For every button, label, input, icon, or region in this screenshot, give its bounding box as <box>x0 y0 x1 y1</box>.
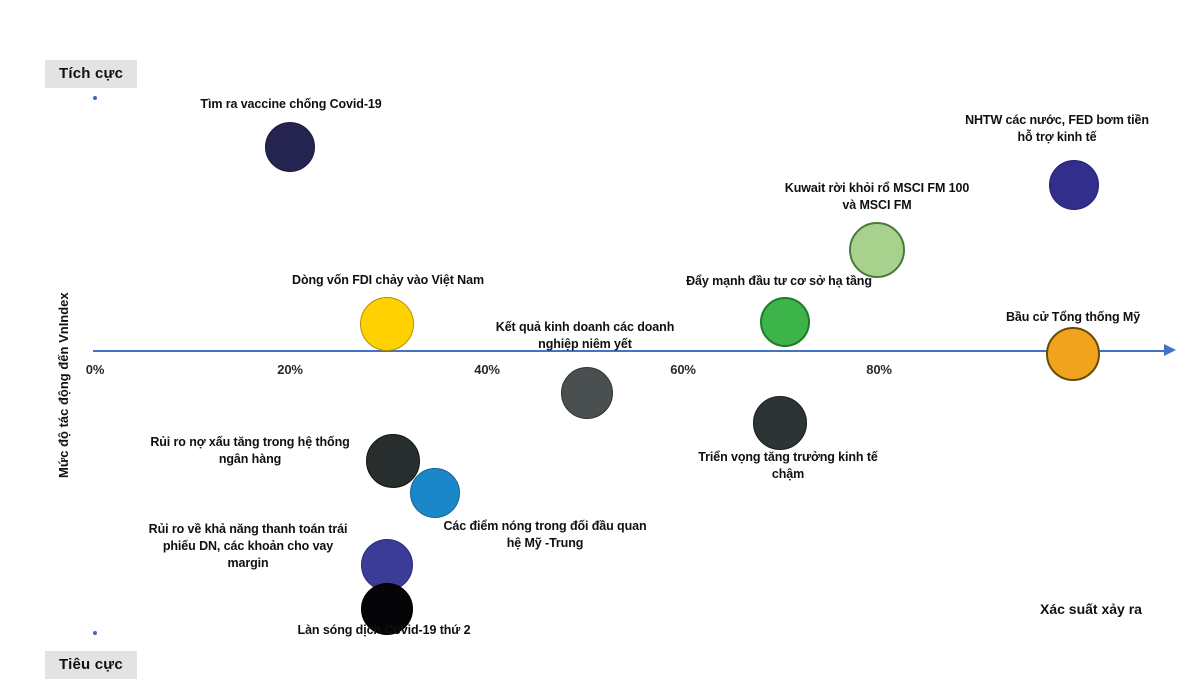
bubble-label-us-china-tension: Các điểm nóng trong đối đầu quan hệ Mỹ -… <box>375 518 715 552</box>
x-tick-40: 40% <box>474 362 499 377</box>
bubble-label-vaccine: Tìm ra vaccine chống Covid-19 <box>121 96 461 113</box>
y-axis-title: Mức độ tác động đến VnIndex <box>56 292 71 478</box>
pole-positive-badge: Tích cực <box>45 60 137 88</box>
bubble-label-kuwait-msci: Kuwait rời khỏi rổ MSCI FM 100 và MSCI F… <box>697 180 1057 214</box>
bubble-label-covid-second-wave: Làn sóng dịch Covid-19 thứ 2 <box>214 622 554 639</box>
bubble-label-nhtw-fed: NHTW các nước, FED bơm tiền hỗ trợ kinh … <box>897 112 1200 146</box>
x-axis-arrow-icon <box>1164 344 1176 356</box>
bubble-us-china-tension[interactable] <box>410 468 460 518</box>
bubble-corporate-earnings[interactable] <box>561 367 613 419</box>
x-axis-title: Xác suất xảy ra <box>1040 601 1142 617</box>
bubble-infrastructure[interactable] <box>760 297 810 347</box>
bubble-fdi[interactable] <box>360 297 414 351</box>
bubble-label-bad-debt-risk: Rủi ro nợ xấu tăng trong hệ thống ngân h… <box>80 434 420 468</box>
bubble-kuwait-msci[interactable] <box>849 222 905 278</box>
bubble-label-corporate-earnings: Kết quả kinh doanh các doanh nghiệp niêm… <box>435 319 735 353</box>
bubble-label-fdi: Dòng vốn FDI chảy vào Việt Nam <box>208 272 568 289</box>
x-tick-80: 80% <box>866 362 891 377</box>
pole-negative-badge: Tiêu cực <box>45 651 137 679</box>
bubble-slow-growth[interactable] <box>753 396 807 450</box>
bubble-label-us-election: Bầu cử Tổng thống Mỹ <box>923 309 1200 326</box>
pole-negative-dot-icon <box>93 631 97 635</box>
bubble-label-infrastructure: Đẩy mạnh đầu tư cơ sở hạ tầng <box>599 273 959 290</box>
x-tick-20: 20% <box>277 362 302 377</box>
x-tick-60: 60% <box>670 362 695 377</box>
bubble-vaccine[interactable] <box>265 122 315 172</box>
risk-opportunity-bubble-chart: 0% 20% 40% 60% 80% 100% Tích cực Tiêu cự… <box>0 0 1200 697</box>
pole-positive-dot-icon <box>93 96 97 100</box>
bubble-us-election[interactable] <box>1046 327 1100 381</box>
bubble-label-bond-payment-risk: Rủi ro về khả năng thanh toán trái phiếu… <box>78 521 418 572</box>
bubble-label-slow-growth: Triển vọng tăng trưởng kinh tế chậm <box>628 449 948 483</box>
x-tick-0: 0% <box>86 362 104 377</box>
